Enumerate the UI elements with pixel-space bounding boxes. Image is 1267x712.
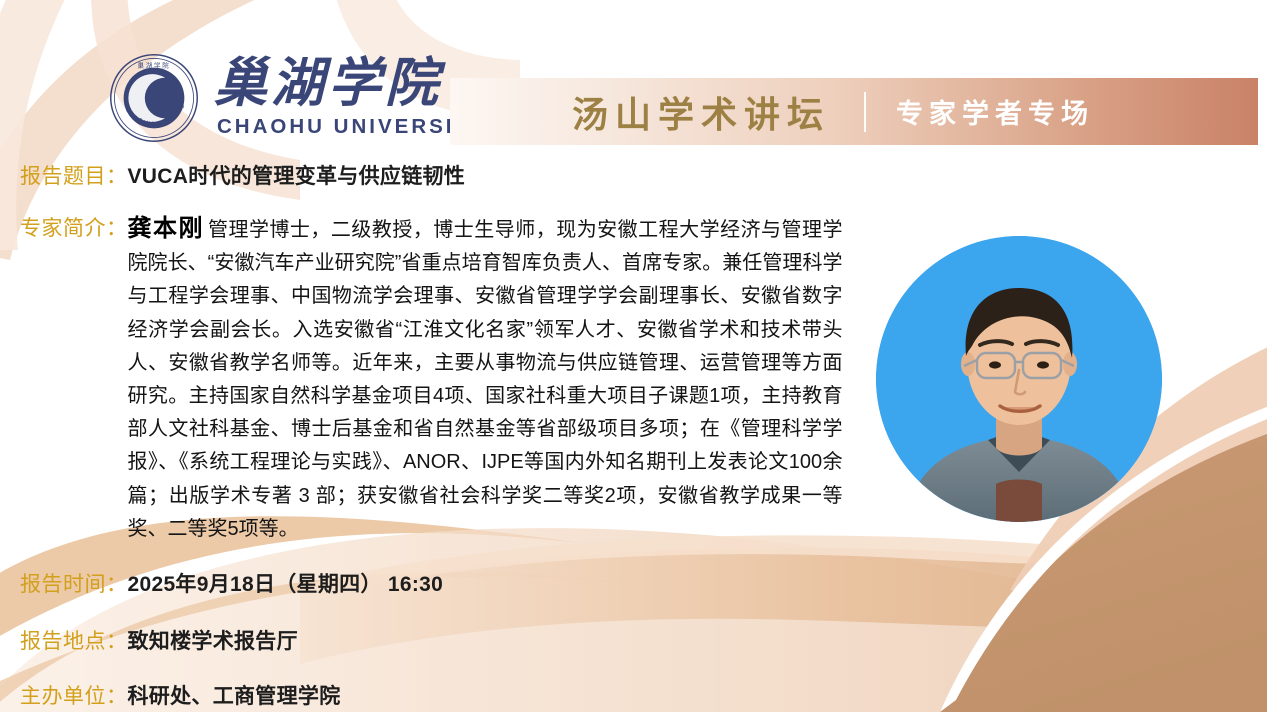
forum-subtitle: 专家学者专场 (896, 92, 1094, 131)
speaker-bio-label: 专家简介： (20, 212, 128, 242)
report-time-label: 报告时间： (20, 568, 128, 598)
portrait-illustration (876, 236, 1162, 522)
report-title-value: VUCA时代的管理变革与供应链韧性 (128, 160, 466, 190)
report-host-label: 主办单位： (20, 680, 128, 710)
lecture-poster: 1977 巢湖学院 CHAOHU UNIVERSITY 巢湖学院 CHAOHU … (0, 0, 1267, 712)
speaker-bio-body: 龚本刚管理学博士，二级教授，博士生导师，现为安徽工程大学经济与管理学院院长、“安… (128, 212, 843, 546)
speaker-bio-text: 管理学博士，二级教授，博士生导师，现为安徽工程大学经济与管理学院院长、“安徽汽车… (128, 219, 843, 540)
forum-banner: 汤山学术讲坛 专家学者专场 (450, 78, 1258, 145)
university-logo-block: 1977 巢湖学院 CHAOHU UNIVERSITY 巢湖学院 CHAOHU … (108, 52, 487, 144)
svg-text:巢湖学院: 巢湖学院 (137, 61, 170, 70)
report-place-value: 致知楼学术报告厅 (128, 625, 298, 655)
forum-title: 汤山学术讲坛 (572, 86, 830, 138)
svg-text:1977: 1977 (148, 106, 160, 112)
report-title-row: 报告题目： VUCA时代的管理变革与供应链韧性 (20, 160, 465, 190)
report-title-label: 报告题目： (20, 160, 128, 190)
speaker-bio-row: 专家简介： 龚本刚管理学博士，二级教授，博士生导师，现为安徽工程大学经济与管理学… (20, 212, 880, 546)
speaker-portrait (876, 236, 1162, 522)
report-host-row: 主办单位： 科研处、工商管理学院 (20, 680, 341, 710)
chaohu-university-seal-icon: 1977 巢湖学院 CHAOHU UNIVERSITY (108, 52, 200, 144)
university-name-cn: 巢湖学院 (214, 58, 487, 111)
banner-divider (864, 92, 866, 132)
university-name-en: CHAOHU UNIVERSITY (217, 117, 487, 138)
report-time-row: 报告时间： 2025年9月18日（星期四） 16:30 (20, 568, 443, 598)
report-place-label: 报告地点： (20, 625, 128, 655)
report-place-row: 报告地点： 致知楼学术报告厅 (20, 625, 298, 655)
report-host-value: 科研处、工商管理学院 (128, 680, 341, 710)
speaker-name: 龚本刚 (128, 215, 204, 242)
report-time-value: 2025年9月18日（星期四） 16:30 (128, 568, 444, 598)
